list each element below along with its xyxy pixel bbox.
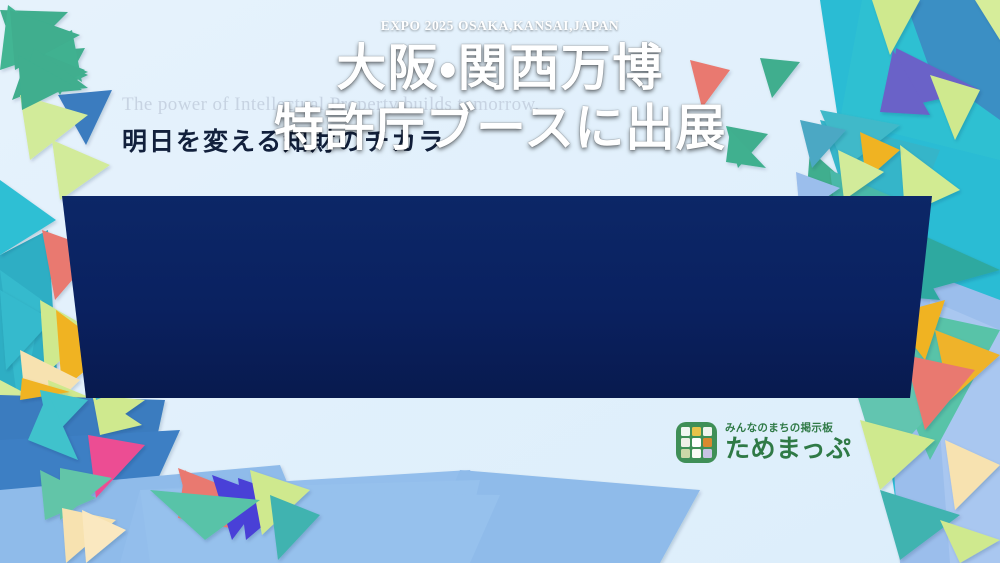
- logo-tile: [692, 449, 701, 458]
- tamemap-logo-text: みんなのまちの掲示板 ためまっぷ: [725, 423, 852, 462]
- logo-tile: [681, 427, 690, 436]
- logo-tile: [692, 438, 701, 447]
- poster-canvas: The power of Intellectual Property build…: [0, 0, 1000, 563]
- logo-tile: [703, 449, 712, 458]
- main-banner-content: EXPO 2025 OSAKA,KANSAI,JAPAN 大阪・関西万博 特許庁…: [0, 0, 1000, 202]
- logo-tile: [692, 427, 701, 436]
- expo-eyebrow-text: EXPO 2025 OSAKA,KANSAI,JAPAN: [381, 18, 620, 34]
- tamemap-grid-icon: [676, 422, 717, 463]
- logo-tile: [681, 449, 690, 458]
- tamemap-logo-name: ためまっぷ: [725, 437, 852, 462]
- banner-headline-line2: 特許庁ブースに出展: [274, 98, 726, 158]
- tamemap-logo-subtitle: みんなのまちの掲示板: [725, 423, 852, 434]
- main-banner: [0, 196, 1000, 398]
- banner-headline: 大阪・関西万博 特許庁ブースに出展: [274, 38, 726, 158]
- logo-tile: [703, 438, 712, 447]
- tamemap-logo[interactable]: みんなのまちの掲示板 ためまっぷ: [676, 422, 852, 463]
- banner-headline-line1: 大阪・関西万博: [274, 38, 726, 98]
- logo-tile: [681, 438, 690, 447]
- logo-tile: [703, 427, 712, 436]
